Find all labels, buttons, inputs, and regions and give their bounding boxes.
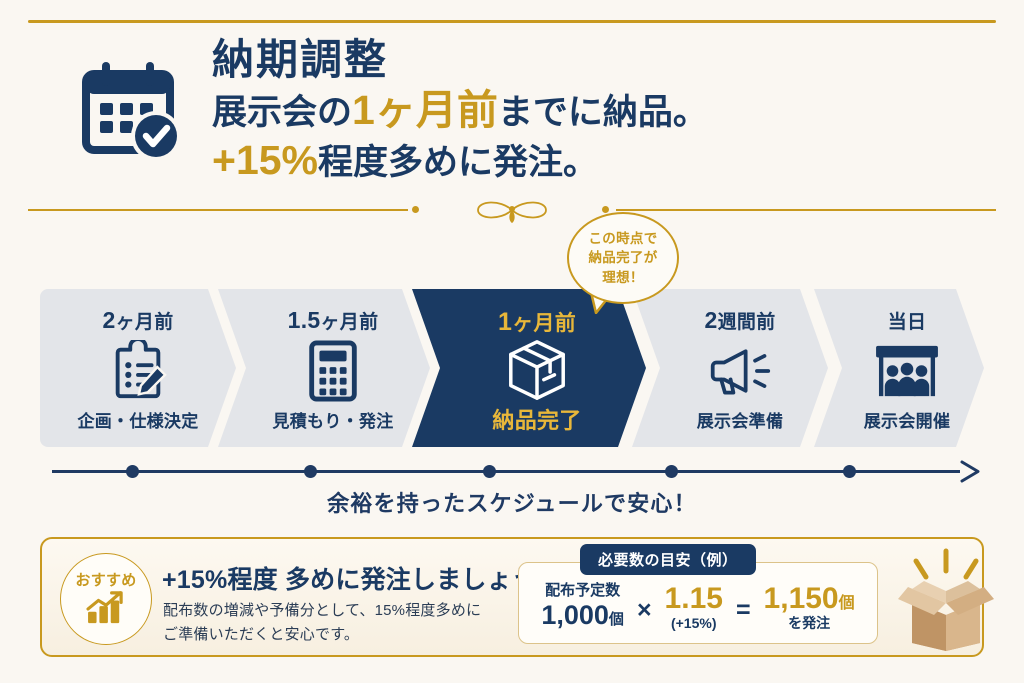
step-2-when-num: 1.5 xyxy=(288,307,321,333)
timeline-step-2[interactable]: 1.5ヶ月前 xyxy=(218,289,430,447)
booth-people-icon xyxy=(830,334,984,407)
header-line2-highlight: 1ヶ月前 xyxy=(352,87,498,133)
recommend-headline-pct: +15% xyxy=(162,566,227,594)
step-2-label: 見積もり・発注 xyxy=(272,407,393,432)
infographic-root: 納期調整 展示会の1ヶ月前までに納品。 +15%程度多めに発注。 こ xyxy=(0,0,1024,683)
step-3-when: 1ヶ月前 xyxy=(498,307,576,337)
header-line3-highlight: +15% xyxy=(212,137,318,183)
clipboard-pencil-icon xyxy=(40,334,236,407)
calc-result-value: 1,150個 xyxy=(764,582,855,616)
step-1-label: 企画・仕様決定 xyxy=(77,407,198,432)
calc-factor-value: 1.15 xyxy=(665,582,723,616)
step-1-when: 2ヶ月前 xyxy=(103,307,174,334)
calc-tag: 必要数の目安（例） xyxy=(580,544,756,575)
calc-result-number: 1,150 xyxy=(764,582,839,615)
step-1-content: 2ヶ月前 xyxy=(40,289,236,447)
header-line2-a: 展示会の xyxy=(212,93,352,132)
header-line-2: 展示会の1ヶ月前までに納品。 xyxy=(212,85,708,135)
timeline-step-1[interactable]: 2ヶ月前 xyxy=(40,289,236,447)
calc-qty-unit: 個 xyxy=(609,611,624,628)
timeline-steps: 2ヶ月前 xyxy=(40,289,984,447)
recommend-body-line-1: 配布数の増減や予備分として、15%程度多めに xyxy=(163,599,481,623)
bubble-line-3: 理想！ xyxy=(602,268,643,287)
megaphone-icon xyxy=(652,334,828,407)
divider-line-left xyxy=(28,209,408,211)
calc-qty-value: 1,000個 xyxy=(541,600,624,630)
axis-dot-4 xyxy=(665,465,678,478)
calc-result-group: 1,150個 を発注 xyxy=(764,582,855,631)
recommendation-panel: おすすめ +15%程度 多めに発注しましょう！ 配布数の増減や予備分として、15… xyxy=(40,537,984,657)
step-2-content: 1.5ヶ月前 xyxy=(218,289,430,447)
axis-arrowhead xyxy=(958,460,984,489)
step-5-when-rest: 当日 xyxy=(888,312,927,333)
header-section: 納期調整 展示会の1ヶ月前までに納品。 +15%程度多めに発注。 xyxy=(28,34,996,189)
step-1-when-rest: ヶ月前 xyxy=(116,312,174,333)
step-5-when: 当日 xyxy=(888,307,927,334)
growth-chart-icon xyxy=(84,591,128,630)
divider-line-right xyxy=(616,209,996,211)
divider-dot-left xyxy=(412,206,419,213)
page-title: 納期調整 xyxy=(212,38,708,83)
bubble-line-2: 納品完了が xyxy=(589,248,658,267)
step-4-content: 2週間前 展示会準備 xyxy=(632,289,828,447)
calendar-check-icon xyxy=(76,56,188,168)
timeline-step-5[interactable]: 当日 xyxy=(814,289,984,447)
step-5-content: 当日 xyxy=(814,289,984,447)
calc-factor-group: 1.15 (+15%) xyxy=(665,582,723,631)
recommend-badge-label: おすすめ xyxy=(75,569,136,590)
calc-quantity-group: 配布予定数 1,000個 xyxy=(541,583,624,630)
open-box-icon xyxy=(894,545,998,651)
axis-dot-5 xyxy=(843,465,856,478)
axis-line xyxy=(52,470,960,473)
calc-factor-sub: (+15%) xyxy=(671,616,717,632)
calculator-icon xyxy=(236,334,430,407)
top-gold-rule xyxy=(28,20,996,23)
step-2-when: 1.5ヶ月前 xyxy=(288,307,379,334)
step-4-when-num: 2 xyxy=(705,307,718,333)
divider-dot-right xyxy=(602,206,609,213)
package-box-icon xyxy=(428,337,646,403)
step-4-label: 展示会準備 xyxy=(697,407,784,432)
step-4-when: 2週間前 xyxy=(705,307,776,334)
step-1-when-num: 2 xyxy=(103,307,116,333)
ornament-divider xyxy=(28,197,996,223)
step-3-label: 納品完了 xyxy=(492,403,581,435)
recommend-body-line-2: ご準備いただくと安心です。 xyxy=(163,623,481,647)
calculation-row: 配布予定数 1,000個 × 1.15 (+15%) = 1,150個 を発注 xyxy=(519,563,877,643)
calc-result-sub: を発注 xyxy=(788,616,830,632)
header-line2-c: までに納品。 xyxy=(498,93,708,132)
calc-qty-number: 1,000 xyxy=(541,600,609,630)
calc-qty-label: 配布予定数 xyxy=(545,583,620,600)
recommend-body: 配布数の増減や予備分として、15%程度多めに ご準備いただくと安心です。 xyxy=(163,599,481,648)
calc-equals-operator: = xyxy=(736,590,751,625)
calc-result-unit: 個 xyxy=(839,595,855,612)
header-line-3: +15%程度多めに発注。 xyxy=(212,135,708,185)
step-3-when-num: 1 xyxy=(498,308,512,336)
calc-multiply-operator: × xyxy=(637,590,652,625)
step-2-when-rest: ヶ月前 xyxy=(320,312,378,333)
header-line3-b: 程度多めに発注。 xyxy=(318,143,598,182)
recommend-headline: +15%程度 多めに発注しましょう！ xyxy=(162,560,562,596)
axis-dot-1 xyxy=(126,465,139,478)
flourish-ornament xyxy=(432,197,592,228)
step-3-when-rest: ヶ月前 xyxy=(512,312,576,335)
speech-bubble: この時点で 納品完了が 理想！ xyxy=(567,212,679,304)
timeline-caption: 余裕を持ったスケジュールで安心！ xyxy=(0,486,1024,518)
header-text-block: 納期調整 展示会の1ヶ月前までに納品。 +15%程度多めに発注。 xyxy=(212,38,708,185)
timeline-axis xyxy=(40,458,984,486)
recommend-headline-rest: 程度 多めに発注しましょう！ xyxy=(227,566,562,594)
timeline-step-4[interactable]: 2週間前 展示会準備 xyxy=(632,289,828,447)
step-4-when-rest: 週間前 xyxy=(718,312,776,333)
step-5-label: 展示会開催 xyxy=(864,407,951,432)
bubble-line-1: この時点で xyxy=(589,229,658,248)
recommend-badge: おすすめ xyxy=(60,553,152,645)
axis-dot-2 xyxy=(304,465,317,478)
axis-dot-3 xyxy=(483,465,496,478)
